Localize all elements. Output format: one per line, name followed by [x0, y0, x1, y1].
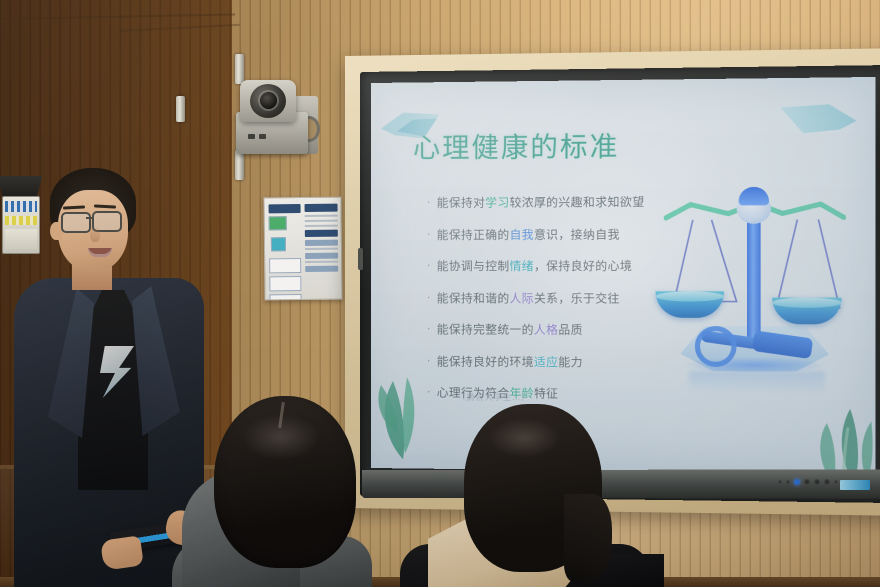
- list-item: · 能保持和谐的人际关系，乐于交往: [427, 291, 682, 307]
- poster-column-left: [269, 204, 302, 294]
- bullet-marker: ·: [427, 322, 431, 337]
- gavel-icon: [691, 320, 823, 370]
- door-hinge-upper: [235, 54, 244, 84]
- display-side-button[interactable]: [358, 248, 363, 270]
- poster-heading-block-right: [305, 204, 338, 212]
- list-item: · 能保持正确的自我意识，接纳自我: [427, 227, 682, 243]
- poster-text-line: [305, 261, 338, 263]
- wall-poster: [263, 197, 342, 301]
- menu-button-icon[interactable]: [778, 480, 782, 484]
- door-hinge-mid: [176, 96, 185, 122]
- volume-down-button-icon[interactable]: [804, 479, 810, 485]
- power-button-icon[interactable]: [794, 479, 800, 485]
- scale-pan-left-rim: [656, 291, 725, 301]
- attendee2-hair-strand: [564, 494, 612, 582]
- list-item: · 能协调与控制情绪，保持良好的心境: [427, 259, 682, 274]
- bullet-highlight: 学习: [485, 195, 509, 209]
- glasses-lens-left: [61, 212, 91, 233]
- ribbon-decoration-top-right: [781, 104, 857, 133]
- bullet-marker: ·: [427, 196, 431, 211]
- poster-thumb-2: [269, 276, 301, 291]
- bullet-marker: ·: [427, 259, 431, 274]
- list-item: · 能保持良好的环境适应能力: [427, 354, 682, 371]
- bullet-text: 能保持和谐的人际关系，乐于交往: [437, 291, 620, 306]
- poster-text-line: [305, 215, 338, 217]
- camera-led-left: [248, 134, 255, 139]
- scale-knob-cap: [739, 187, 769, 206]
- attendee-grey-hoodie: [192, 396, 440, 587]
- presenter-nose: [90, 226, 100, 242]
- poster-bar: [305, 253, 338, 259]
- source-button-icon[interactable]: [786, 480, 790, 484]
- bullet-marker: ·: [427, 227, 431, 242]
- list-item: · 能保持对学习较浓厚的兴趣和求知欲望: [427, 194, 682, 210]
- bullet-highlight: 人格: [534, 322, 558, 336]
- bullet-text: 能协调与控制情绪，保持良好的心境: [437, 259, 633, 274]
- home-button-icon[interactable]: [824, 479, 830, 485]
- poster-bar: [305, 240, 338, 246]
- poster-text-line: [305, 225, 338, 227]
- poster-text-line: [305, 220, 338, 222]
- poster-bar: [305, 266, 338, 272]
- list-item: · 能保持完整统一的人格品质: [427, 322, 682, 338]
- bullet-highlight: 自我: [510, 227, 534, 241]
- glasses-bridge: [86, 217, 94, 219]
- poster-column-right: [305, 204, 339, 294]
- camera-lens-icon: [260, 92, 277, 109]
- display-control-buttons[interactable]: [778, 479, 838, 485]
- slide-title: 心理健康的标准: [413, 125, 619, 166]
- balance-scale-illustration: [647, 176, 862, 387]
- door-hinge-lower: [235, 150, 244, 180]
- presenter-hand-left: [100, 535, 144, 570]
- poster-text-line: [305, 248, 338, 250]
- poster-subheading: [305, 230, 338, 237]
- slide-bullet-list: · 能保持对学习较浓厚的兴趣和求知欲望 · 能保持正确的自我意识，接纳自我 · …: [427, 194, 682, 419]
- attendee2-hair-highlight: [488, 418, 560, 458]
- scale-pan-right-rim: [772, 298, 842, 308]
- bullet-text: 能保持良好的环境适应能力: [437, 354, 583, 369]
- bullet-highlight: 人际: [510, 291, 534, 305]
- bullet-highlight: 情绪: [510, 259, 534, 273]
- attendee-beige-collar: [424, 404, 674, 587]
- screenshot-root: 心理健康的标准 · 能保持对学习较浓厚的兴趣和求知欲望 · 能保持正确的自我意识…: [0, 0, 880, 587]
- gavel-head: [752, 330, 813, 359]
- poster-thumb-cyan: [271, 237, 286, 251]
- slide-credit-text: （摘自大学生…）: [457, 392, 530, 404]
- bullet-marker: ·: [427, 291, 431, 306]
- bullet-text: 能保持对学习较浓厚的兴趣和求知欲望: [437, 195, 645, 211]
- display-brand-plate: [840, 480, 870, 490]
- camera-led-right: [259, 134, 266, 139]
- poster-heading-block: [269, 204, 301, 213]
- poster-thumb-green: [269, 216, 287, 230]
- poster-thumb-1: [269, 258, 301, 273]
- bottom-right-leaves: [802, 382, 876, 474]
- bullet-text: 能保持完整统一的人格品质: [437, 322, 583, 337]
- ir-sensor-icon: [834, 480, 838, 484]
- bullet-text: 能保持正确的自我意识，接纳自我: [437, 227, 620, 242]
- poster-thumb-3: [269, 294, 301, 300]
- gavel-ring: [695, 326, 737, 367]
- volume-up-button-icon[interactable]: [814, 479, 820, 485]
- bullet-highlight: 适应: [534, 354, 558, 368]
